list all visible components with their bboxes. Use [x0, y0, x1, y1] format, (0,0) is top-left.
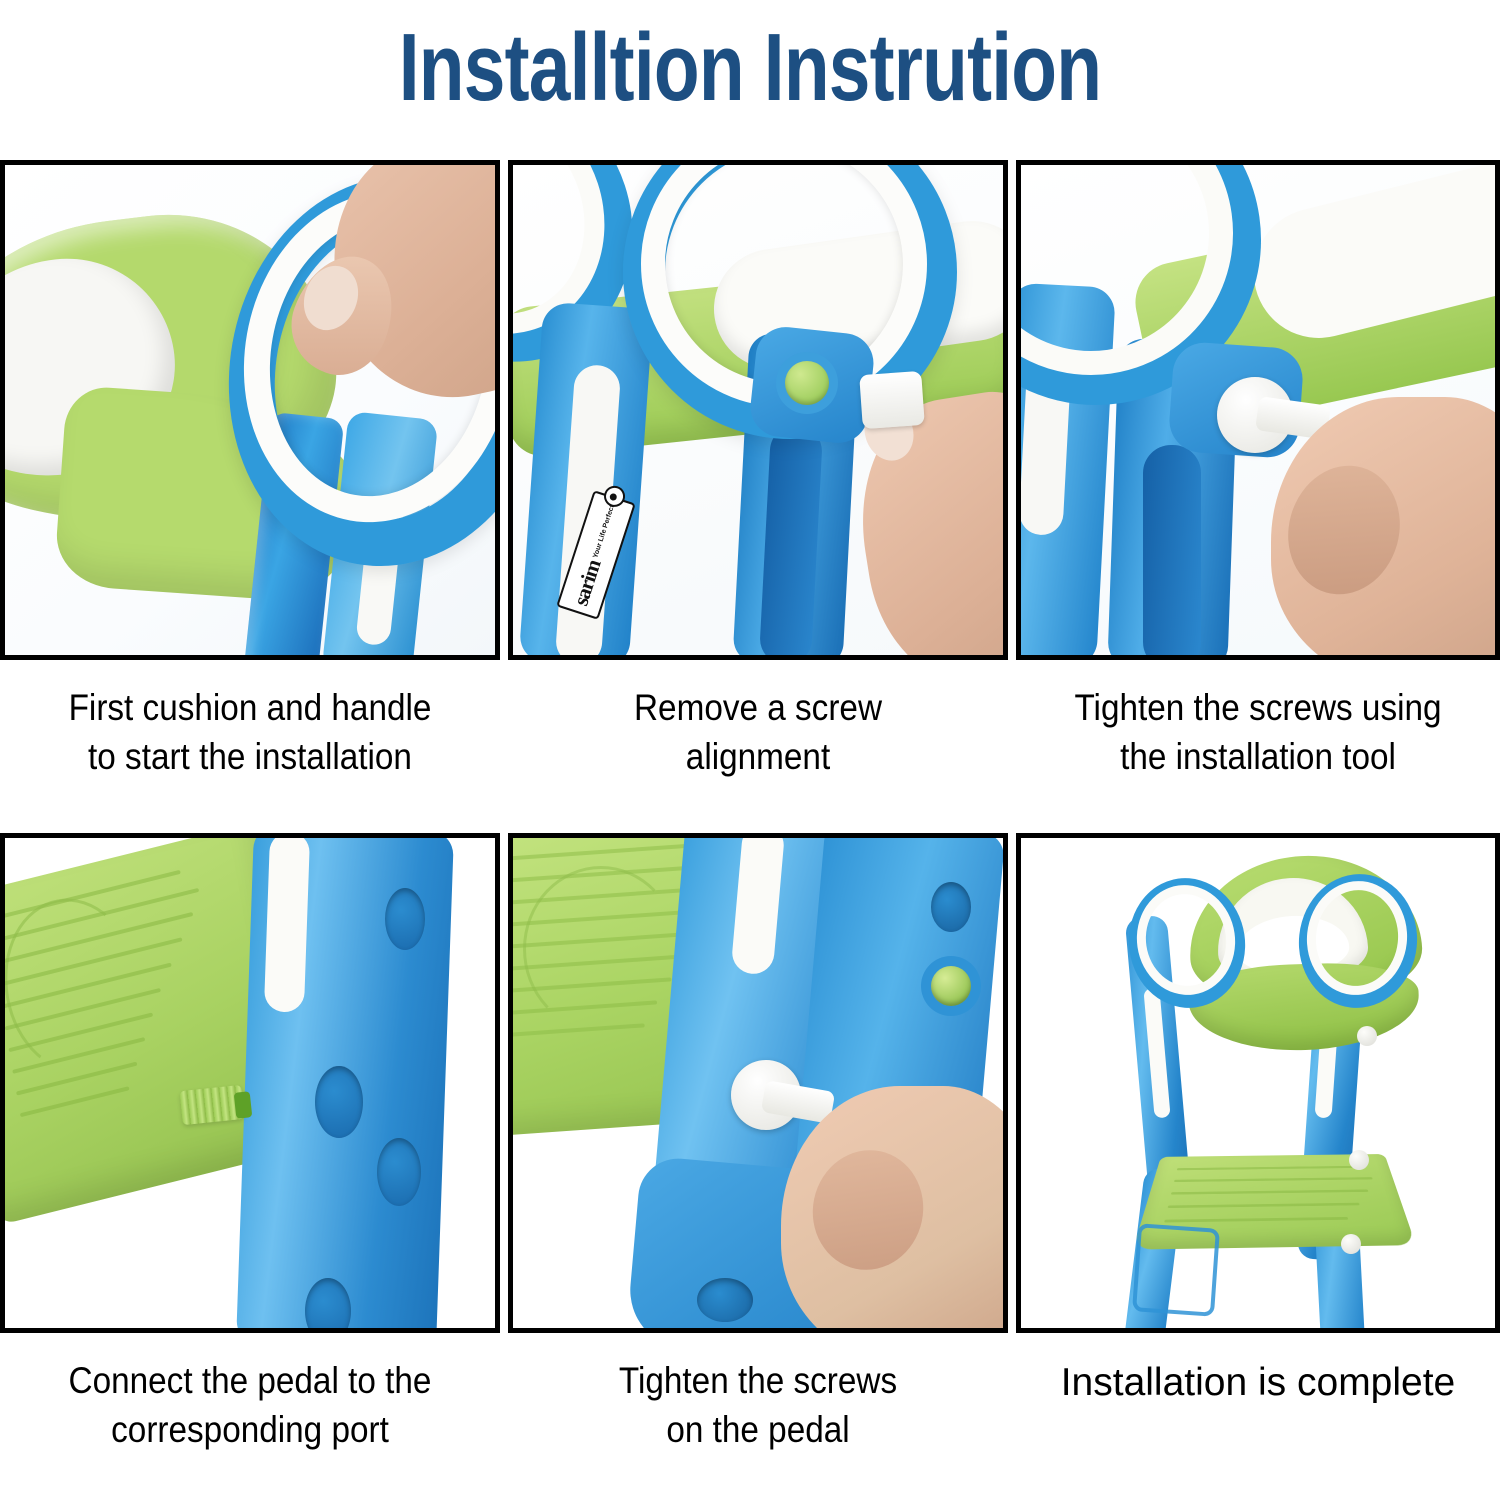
green-peg-tip: [234, 1091, 253, 1119]
step-image-6: [1016, 833, 1500, 1333]
step-image-3: [1016, 160, 1500, 660]
page-title: Installtion Instrution: [165, 18, 1335, 119]
leg-port-hole: [315, 1066, 363, 1138]
step-caption-5: Tighten the screws on the pedal: [533, 1357, 983, 1455]
step-caption-1: First cushion and handle to start the in…: [25, 684, 475, 782]
white-leg-slot-shape: [264, 833, 310, 1013]
step-image-4: [0, 833, 500, 1333]
step-image-2: sarim Your Life Perfect: [508, 160, 1008, 660]
step-caption-6: Installation is complete: [1016, 1357, 1500, 1408]
blue-leg-shadow-shape: [1143, 445, 1201, 660]
green-screw-icon: [931, 966, 971, 1006]
leg-port-hole: [385, 888, 425, 950]
step-card-5: Tighten the screws on the pedal: [508, 833, 1008, 1455]
ladder-brace: [1132, 1223, 1220, 1317]
green-screw-icon: [785, 361, 829, 405]
step-image-1: [0, 160, 500, 660]
step-caption-2: Remove a screw alignment: [533, 684, 983, 782]
steps-row-top: First cushion and handle to start the in…: [0, 160, 1500, 782]
step-card-3: Tighten the screws using the installatio…: [1016, 160, 1500, 782]
step-card-1: First cushion and handle to start the in…: [0, 160, 500, 782]
brand-tagline: Your Life Perfect: [592, 504, 616, 559]
screw-cap-icon: [1341, 1234, 1361, 1254]
step-card-6: Installation is complete: [1016, 833, 1500, 1455]
step-card-4: Connect the pedal to the corresponding p…: [0, 833, 500, 1455]
leg-port-hole: [931, 882, 971, 932]
step-caption-4: Connect the pedal to the corresponding p…: [25, 1357, 475, 1455]
leg-port-hole: [377, 1138, 421, 1206]
installation-instruction-page: Installtion Instrution: [0, 0, 1500, 1500]
leg-port-hole: [697, 1278, 753, 1322]
pedal-arc-detail: [523, 866, 679, 1032]
brand-name: sarim: [568, 557, 606, 609]
step-card-2: sarim Your Life Perfect Remove a screw a…: [508, 160, 1008, 782]
white-screw-cap-shape: [859, 371, 925, 429]
screw-cap-icon: [1349, 1150, 1369, 1170]
screw-cap-icon: [1357, 1026, 1377, 1046]
step-image-5: [508, 833, 1008, 1333]
step-caption-3: Tighten the screws using the installatio…: [1040, 684, 1476, 782]
steps-row-bottom: Connect the pedal to the corresponding p…: [0, 833, 1500, 1455]
